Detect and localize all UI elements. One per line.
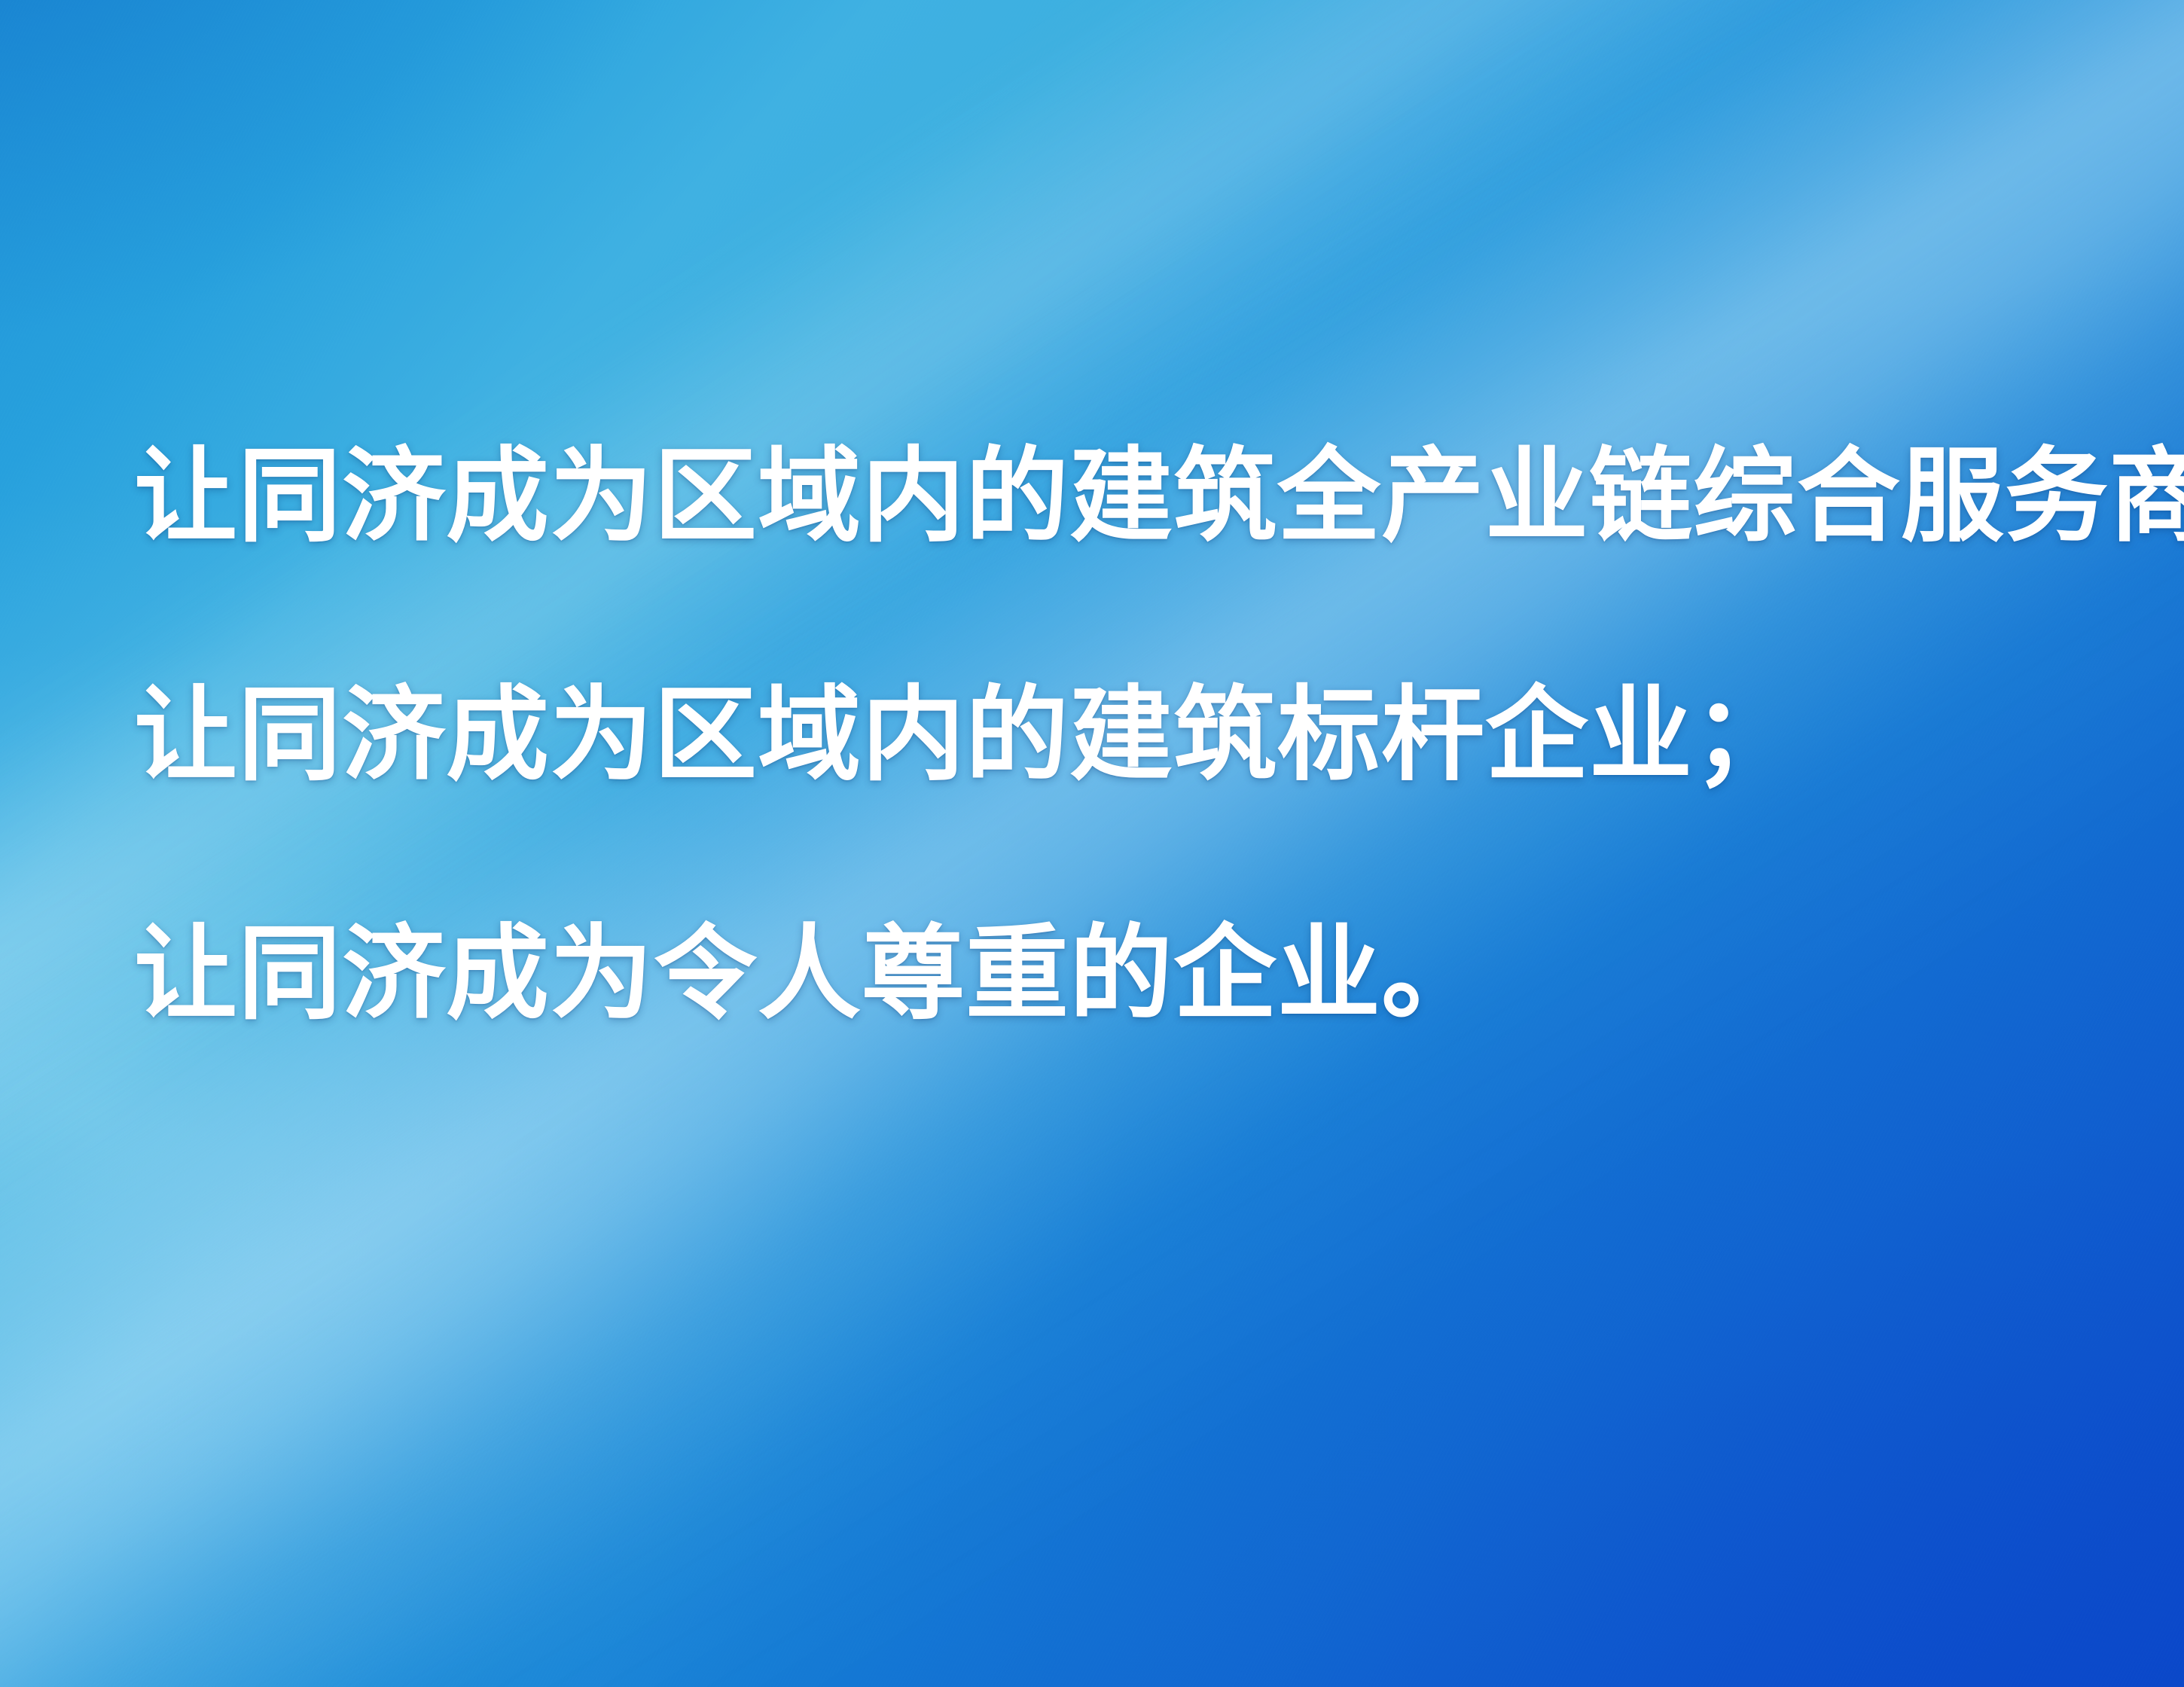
presentation-slide: 让同济成为区域内的建筑全产业链综合服务商； 让同济成为区域内的建筑标杆企业； 让…: [0, 0, 2184, 1687]
vision-statement-line-2: 让同济成为区域内的建筑标杆企业；: [134, 683, 2107, 786]
vision-statement-block: 让同济成为区域内的建筑全产业链综合服务商； 让同济成为区域内的建筑标杆企业； 让…: [134, 444, 2107, 1025]
vision-statement-line-1: 让同济成为区域内的建筑全产业链综合服务商；: [134, 444, 2107, 548]
vision-statement-line-3: 让同济成为令人尊重的企业。: [134, 922, 2107, 1025]
